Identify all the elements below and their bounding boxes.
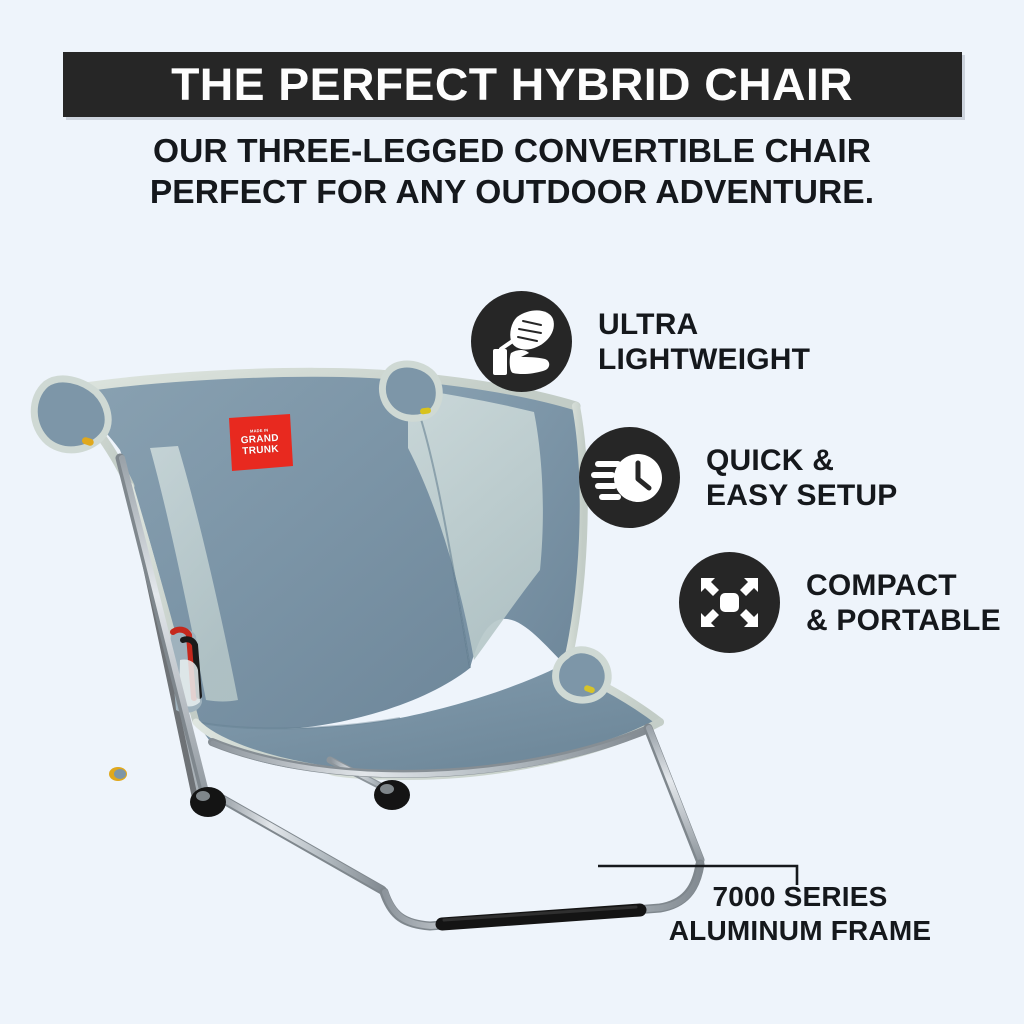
subheading: OUR THREE-LEGGED CONVERTIBLE CHAIR PERFE… xyxy=(0,131,1024,213)
feature-label: ULTRA LIGHTWEIGHT xyxy=(598,307,810,377)
feature-label-line-1: QUICK & xyxy=(706,443,898,478)
feature-label-line-2: LIGHTWEIGHT xyxy=(598,342,810,377)
feature-label: QUICK & EASY SETUP xyxy=(706,443,898,513)
subheading-line-2: PERFECT FOR ANY OUTDOOR ADVENTURE. xyxy=(0,172,1024,213)
feature-ultra-lightweight: ULTRA LIGHTWEIGHT xyxy=(471,291,810,392)
feature-label-line-2: EASY SETUP xyxy=(706,478,898,513)
feature-quick-easy-setup: QUICK & EASY SETUP xyxy=(579,427,898,528)
feature-label-line-1: ULTRA xyxy=(598,307,810,342)
subheading-line-1: OUR THREE-LEGGED CONVERTIBLE CHAIR xyxy=(0,131,1024,172)
feature-label-line-2: & PORTABLE xyxy=(806,603,1001,638)
feature-badge xyxy=(679,552,780,653)
page-title: THE PERFECT HYBRID CHAIR xyxy=(172,62,854,107)
hand-feather-icon xyxy=(471,291,572,392)
callout-line-2: ALUMINUM FRAME xyxy=(615,914,985,948)
infographic-page: THE PERFECT HYBRID CHAIR OUR THREE-LEGGE… xyxy=(0,0,1024,1024)
compress-arrows-icon xyxy=(679,552,780,653)
feature-compact-portable: COMPACT & PORTABLE xyxy=(679,552,1001,653)
callout-aluminum-frame: 7000 SERIES ALUMINUM FRAME xyxy=(615,880,985,948)
feature-badge xyxy=(471,291,572,392)
callout-line-1: 7000 SERIES xyxy=(615,880,985,914)
feature-label: COMPACT & PORTABLE xyxy=(806,568,1001,638)
fast-clock-icon xyxy=(579,427,680,528)
feature-label-line-1: COMPACT xyxy=(806,568,1001,603)
brand-logo-patch xyxy=(229,414,293,471)
product-image-camp-chair xyxy=(0,330,760,950)
feature-badge xyxy=(579,427,680,528)
headline-bar: THE PERFECT HYBRID CHAIR xyxy=(63,52,962,117)
